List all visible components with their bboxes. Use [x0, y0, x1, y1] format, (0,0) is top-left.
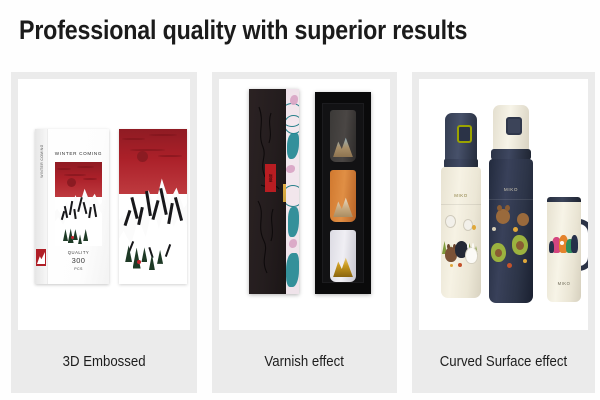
artwork-sky	[55, 162, 102, 197]
tray-interior	[322, 103, 364, 283]
box-meta-count: 300	[48, 256, 109, 267]
cup-mountain-graphic	[333, 136, 353, 157]
mug-rim	[547, 197, 581, 202]
cup-dark	[330, 110, 356, 162]
feature-card-varnish-effect[interactable]: 限量	[212, 72, 397, 393]
product-image-bottles-mug: MIKO	[419, 79, 588, 330]
mug-cream: MIKO	[547, 197, 588, 302]
box-spine-text: WINTER COMING	[40, 138, 44, 184]
cup-mountain-graphic	[333, 196, 353, 217]
red-label: 限量	[265, 164, 276, 192]
bottle-logo-text: MIKO	[489, 187, 533, 192]
thermos-bottle-cream: MIKO	[441, 113, 481, 298]
artwork-detail-crop	[119, 129, 187, 284]
promo-page: Professional quality with superior resul…	[0, 0, 600, 400]
box-front-face: WINTER COMING	[48, 129, 109, 284]
cup-white	[330, 230, 356, 282]
page-title: Professional quality with superior resul…	[19, 13, 467, 47]
bottle-lid-navy	[445, 113, 477, 163]
bottle-body-cream: MIKO	[441, 167, 481, 298]
bottle-lid-cream	[493, 105, 529, 153]
gold-foil-accent	[283, 184, 286, 202]
cup-orange	[330, 170, 356, 222]
box-brand-text: WINTER COMING	[48, 151, 109, 156]
feature-card-row: WINTER COMING WINTER COMING	[0, 72, 600, 394]
box-spine: WINTER COMING	[35, 129, 48, 284]
bottle-lid-loop	[457, 125, 472, 143]
card-caption-3d-embossed: 3D Embossed	[11, 330, 197, 393]
red-label-text: 限量	[268, 174, 272, 182]
gift-box-side-artwork	[286, 89, 299, 294]
caption-text: Varnish effect	[265, 353, 345, 370]
box-meta-unit: PCS	[48, 267, 109, 272]
bottle-seam	[489, 199, 533, 200]
gift-box-front: 限量	[249, 89, 286, 294]
card-caption-curved-surface-effect: Curved Surface effect	[412, 330, 595, 393]
bottle-seam	[441, 204, 481, 205]
feature-card-curved-surface-effect[interactable]: MIKO	[412, 72, 595, 393]
caption-text: 3D Embossed	[63, 353, 146, 370]
thermos-bottle-navy: MIKO	[489, 105, 533, 303]
bottle-lid-loop	[506, 117, 522, 135]
mug-body: MIKO	[547, 197, 581, 302]
card-caption-varnish-effect: Varnish effect	[212, 330, 397, 393]
artwork-sun	[67, 178, 76, 187]
caption-text: Curved Surface effect	[440, 353, 567, 370]
open-box-tray	[315, 92, 371, 294]
box-meta-block: QUALITY 300 PCS	[48, 250, 109, 272]
black-gift-box: 限量	[249, 89, 299, 294]
box-cover-artwork	[55, 162, 102, 246]
mug-logo-text: MIKO	[547, 281, 581, 286]
cup-mountain-graphic-gold-varnish	[333, 256, 353, 277]
bottle-logo-text: MIKO	[441, 193, 481, 198]
puzzle-box: WINTER COMING WINTER COMING	[35, 129, 109, 284]
product-image-gift-box-cups: 限量	[219, 79, 390, 330]
bottle-body-navy: MIKO	[489, 159, 533, 303]
feature-card-3d-embossed[interactable]: WINTER COMING WINTER COMING	[11, 72, 197, 393]
product-image-puzzle-box: WINTER COMING WINTER COMING	[18, 79, 190, 330]
